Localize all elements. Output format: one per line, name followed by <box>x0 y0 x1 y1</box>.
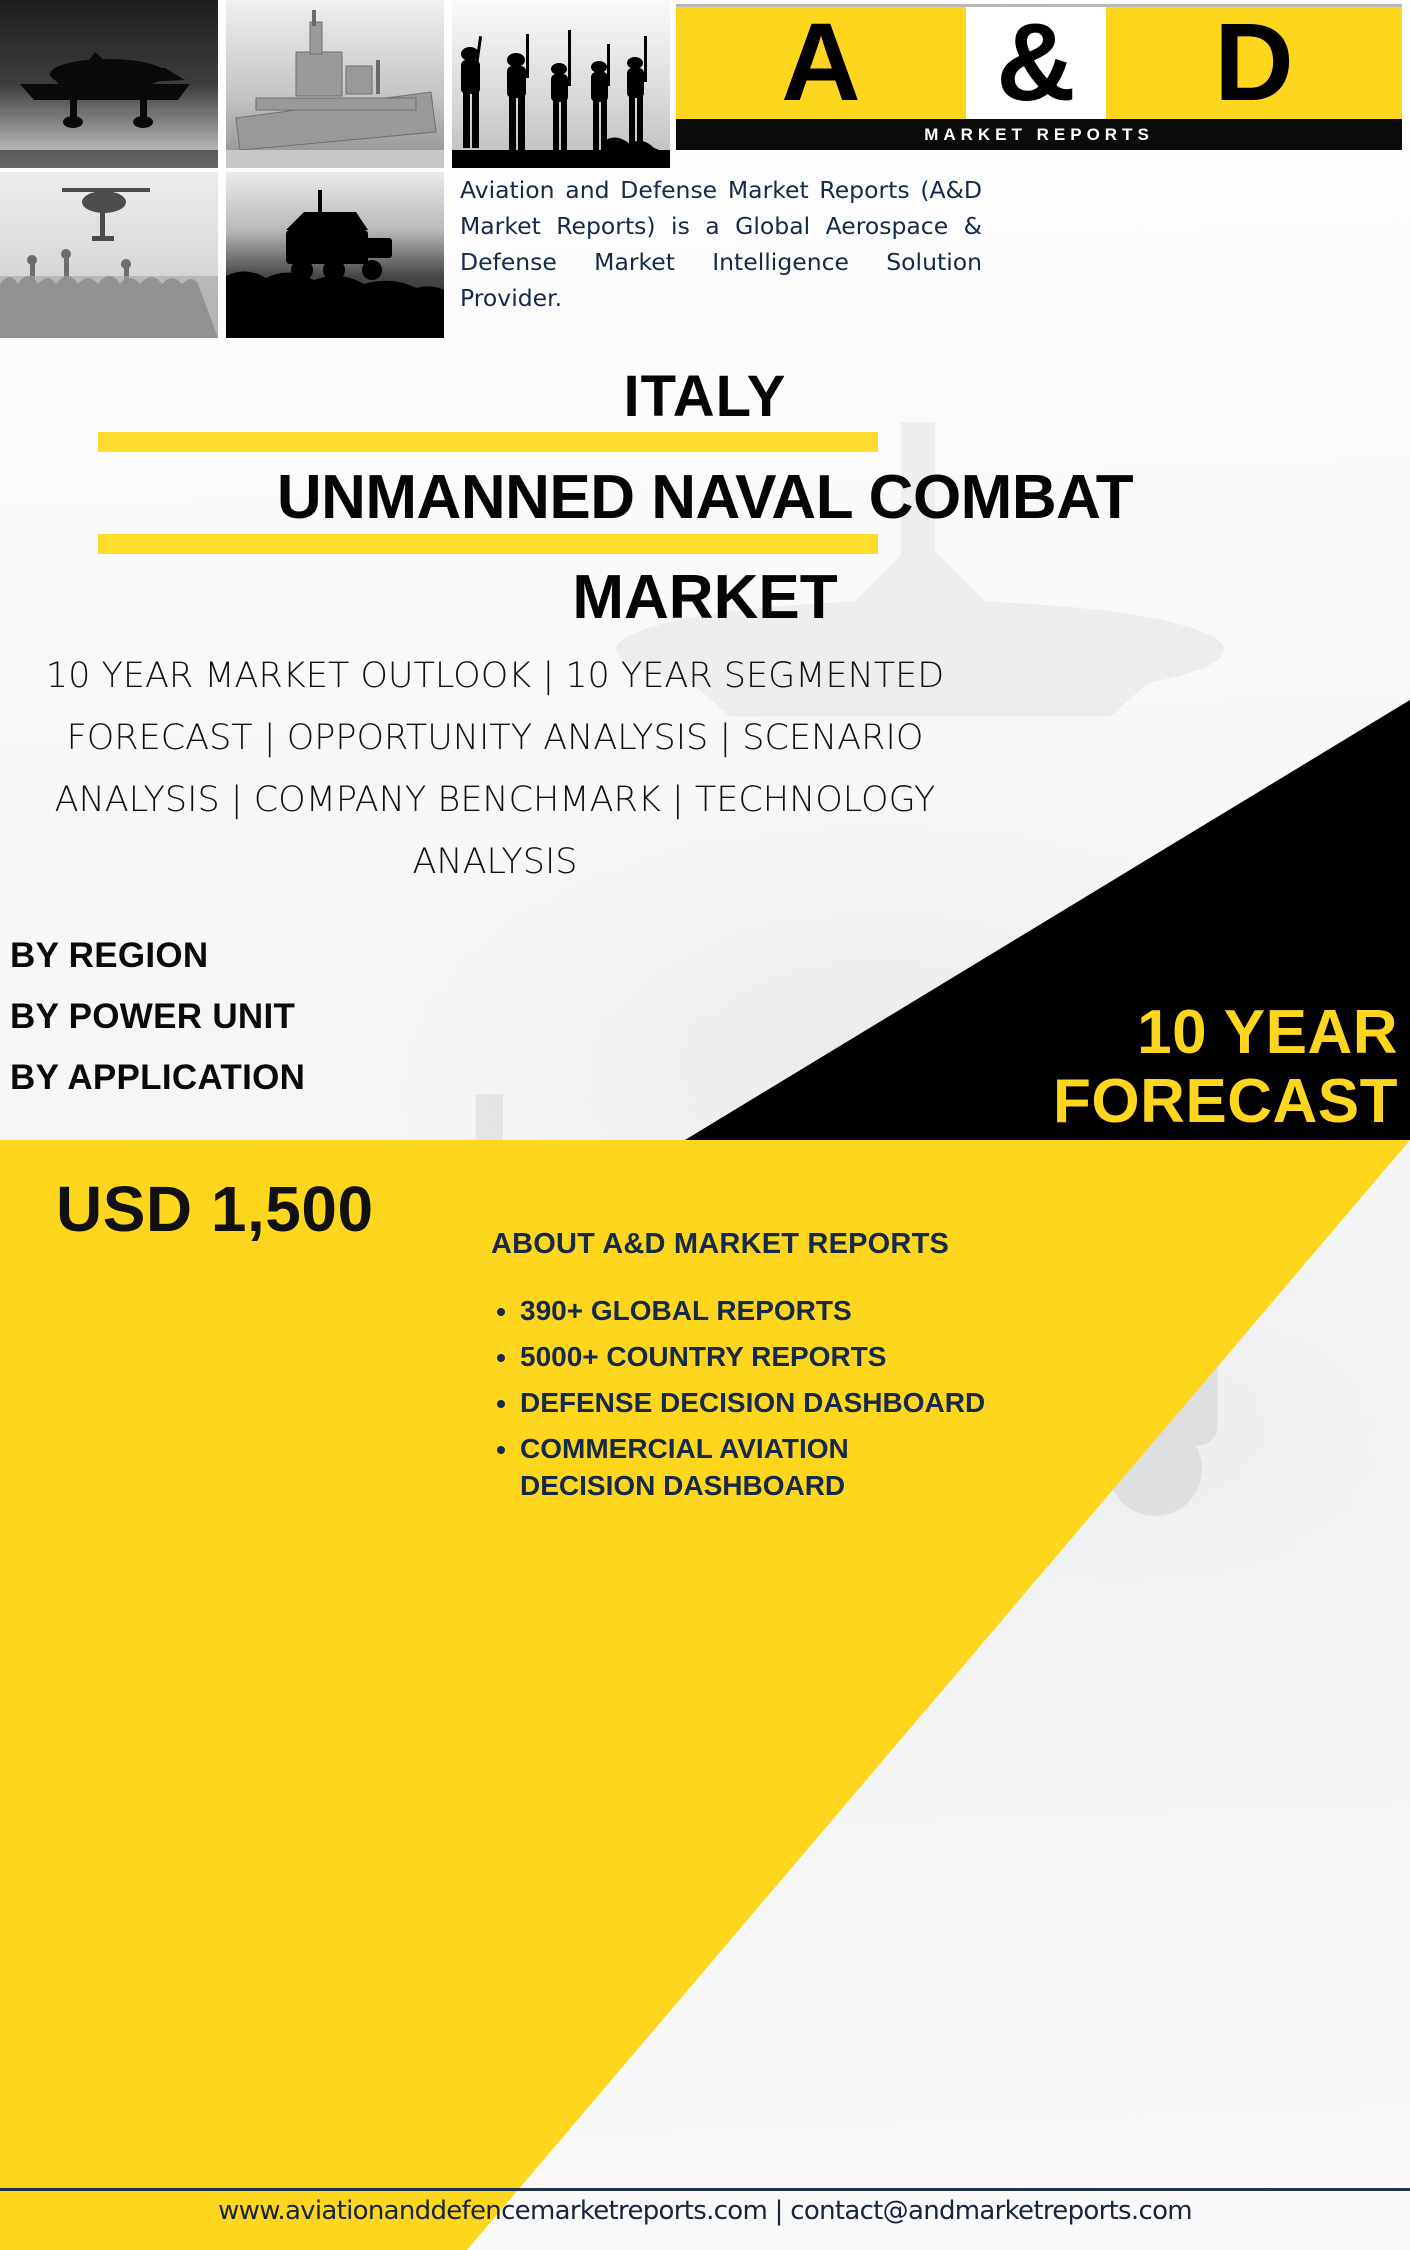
poster-root: A & D MARKET REPORTS Aviation and Defens… <box>0 0 1410 2250</box>
logo-ampersand: & <box>996 8 1075 118</box>
title-highlight-bar-bottom <box>98 534 878 554</box>
title-line-2: MARKET <box>0 562 1410 633</box>
about-list-item: 5000+ COUNTRY REPORTS <box>520 1338 986 1375</box>
about-list-item: DEFENSE DECISION DASHBOARD <box>520 1384 986 1421</box>
forecast-badge: 10 YEAR FORECAST <box>838 1000 1398 1138</box>
company-tagline: Aviation and Defense Market Reports (A&D… <box>460 172 982 316</box>
logo-letters: A & D <box>676 7 1402 119</box>
about-heading: ABOUT A&D MARKET REPORTS <box>460 1228 980 1261</box>
about-list: 390+ GLOBAL REPORTS 5000+ COUNTRY REPORT… <box>486 1292 986 1513</box>
footer-divider <box>0 2188 1410 2191</box>
forecast-badge-line-1: 10 YEAR <box>838 1000 1398 1066</box>
price-label: USD 1,500 <box>56 1172 374 1246</box>
soldiers-silhouette-photo <box>452 0 670 168</box>
title-line-1: UNMANNED NAVAL COMBAT <box>0 462 1410 533</box>
segment-list: BY REGION BY POWER UNIT BY APPLICATION <box>10 925 305 1108</box>
segment-item-power-unit: BY POWER UNIT <box>10 986 305 1047</box>
fighter-jet-photo <box>0 0 218 168</box>
forecast-badge-line-2: FORECAST <box>838 1066 1398 1138</box>
aircraft-carrier-photo <box>226 0 444 168</box>
report-scope-subtitle: 10 YEAR MARKET OUTLOOK | 10 YEAR SEGMENT… <box>22 645 968 893</box>
logo-letter-a-box: A <box>676 7 966 119</box>
armored-vehicle-photo <box>226 172 444 338</box>
title-country: ITALY <box>0 363 1410 430</box>
logo-letter-d-box: D <box>1106 7 1402 119</box>
brand-logo: A & D MARKET REPORTS <box>676 4 1402 150</box>
about-list-item: COMMERCIAL AVIATION DECISION DASHBOARD <box>520 1430 986 1504</box>
about-heading-underline <box>462 1268 974 1274</box>
segment-item-region: BY REGION <box>10 925 305 986</box>
logo-letter-a: A <box>781 8 860 118</box>
logo-subtitle-text: MARKET REPORTS <box>924 125 1154 145</box>
logo-letter-d: D <box>1214 8 1293 118</box>
logo-ampersand-box: & <box>966 7 1106 119</box>
logo-subtitle-bar: MARKET REPORTS <box>676 119 1402 150</box>
footer-contact[interactable]: www.aviationanddefencemarketreports.com … <box>0 2196 1410 2226</box>
helicopter-photo <box>0 172 218 338</box>
about-list-item: 390+ GLOBAL REPORTS <box>520 1292 986 1329</box>
title-highlight-bar-top <box>98 432 878 452</box>
segment-item-application: BY APPLICATION <box>10 1047 305 1108</box>
